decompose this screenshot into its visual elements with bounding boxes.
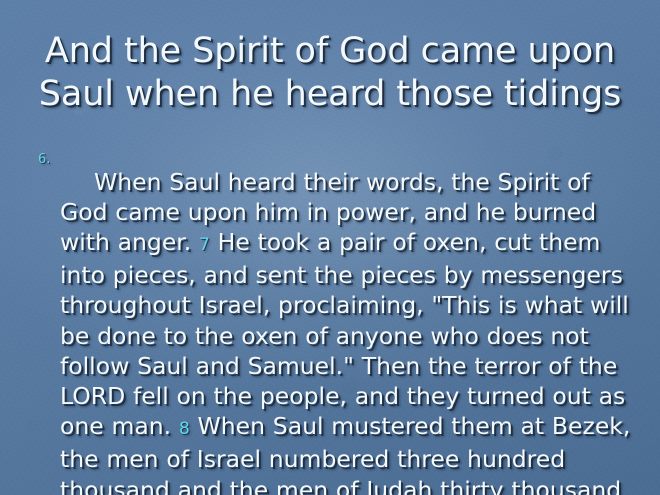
slide-title-line-1: And the Spirit of God came upon <box>28 30 632 73</box>
slide-title-line-2: Saul when he heard those tidings <box>28 73 632 116</box>
slide-body: 6. When Saul heard their words, the Spir… <box>30 143 634 495</box>
verse-number-7: 7 <box>199 235 210 255</box>
presentation-slide: And the Spirit of God came upon Saul whe… <box>0 0 660 495</box>
verse-number-8: 8 <box>179 419 190 439</box>
scripture-segment-2: He took a pair of oxen, cut them into pi… <box>60 228 629 440</box>
scripture-paragraph: When Saul heard their words, the Spirit … <box>60 167 634 495</box>
bullet-marker: 6. <box>30 143 60 177</box>
slide-title: And the Spirit of God came upon Saul whe… <box>28 30 632 116</box>
